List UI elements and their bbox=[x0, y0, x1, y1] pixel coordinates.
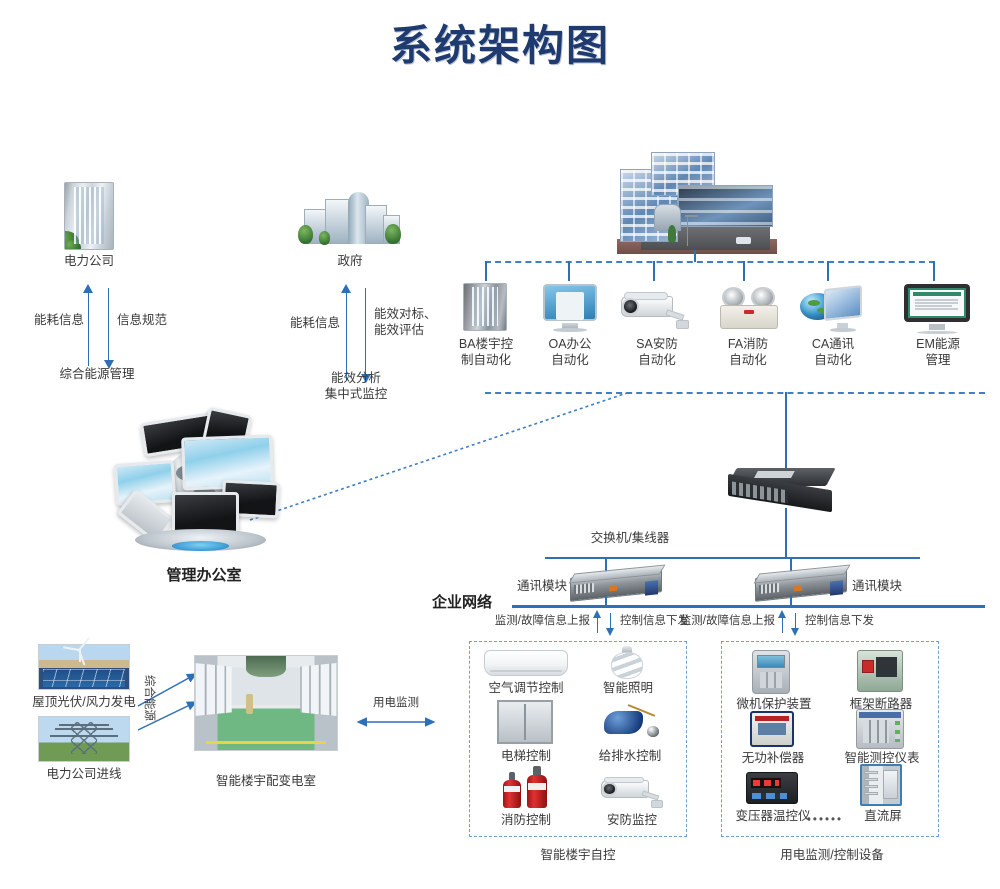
ca-globe-monitor-icon bbox=[800, 284, 862, 332]
reactive-compensator-icon bbox=[750, 711, 794, 747]
protection-relay-icon bbox=[752, 650, 790, 694]
comm-module-right-label: 通讯模块 bbox=[852, 578, 922, 594]
subsystem-drop-3 bbox=[653, 261, 655, 281]
subsystem-label-em: EM能源 管理 bbox=[903, 336, 973, 368]
subsystem-drop-2 bbox=[568, 261, 570, 281]
ba-building-icon bbox=[463, 283, 507, 331]
subsystem-label-ba: BA楼宇控 制自动化 bbox=[448, 336, 524, 368]
ba-item-label-3: 给排水控制 bbox=[588, 748, 672, 764]
flow-down-arrowhead-right bbox=[791, 628, 799, 636]
flow-up-label-right: 监测/故障信息上报 bbox=[665, 613, 775, 629]
flow-up-arrowhead-left bbox=[593, 610, 601, 618]
ba-item-label-1: 智能照明 bbox=[588, 680, 668, 696]
government-downlink-label: 能效对标、 能效评估 bbox=[374, 306, 452, 338]
subsystem-drop-6 bbox=[933, 261, 935, 281]
smart-building-substation-image bbox=[194, 655, 338, 751]
government-label: 政府 bbox=[305, 253, 395, 269]
smart-meter-icon bbox=[856, 709, 904, 749]
sa-camera-icon bbox=[620, 286, 690, 332]
enterprise-network-label: 企业网络 bbox=[432, 595, 508, 611]
power-company-label: 电力公司 bbox=[39, 253, 139, 269]
power-company-downlink-line bbox=[108, 288, 109, 364]
security-camera-icon bbox=[600, 772, 664, 810]
rooftop-pv-wind-label: 屋顶光伏/风力发电 bbox=[19, 694, 149, 710]
management-office-link bbox=[245, 385, 635, 525]
ba-item-label-5: 安防监控 bbox=[592, 812, 672, 828]
switch-uplink-line bbox=[785, 392, 787, 468]
flow-down-arrowhead-left bbox=[606, 628, 614, 636]
flow-down-label-right: 控制信息下发 bbox=[805, 613, 899, 629]
power-company-uplink-line bbox=[88, 290, 89, 366]
office-building-image bbox=[610, 150, 780, 254]
fa-emergency-light-icon bbox=[718, 286, 780, 332]
air-circuit-breaker-icon bbox=[857, 650, 903, 692]
integrated-energy-arrow-label: 综合能源 bbox=[141, 663, 157, 733]
ba-item-label-2: 电梯控制 bbox=[486, 748, 566, 764]
oa-monitor-icon bbox=[543, 284, 597, 332]
management-office-label: 管理办公室 bbox=[132, 568, 276, 584]
flow-up-arrowhead-right bbox=[778, 610, 786, 618]
power-monitoring-arrow-label: 用电监测 bbox=[355, 695, 437, 711]
government-uplink-label: 能耗信息 bbox=[272, 315, 340, 331]
ba-item-label-4: 消防控制 bbox=[486, 812, 566, 828]
transformer-temp-controller-icon bbox=[746, 772, 798, 804]
utility-incoming-line-image bbox=[38, 716, 130, 762]
rooftop-pv-wind-image bbox=[38, 644, 130, 690]
pm-item-label-2: 无功补偿器 bbox=[731, 750, 815, 766]
subsystem-drop-1 bbox=[485, 261, 487, 281]
subsystem-label-fa: FA消防 自动化 bbox=[713, 336, 783, 368]
switch-label: 交换机/集线器 bbox=[570, 530, 690, 546]
enterprise-drop-left bbox=[605, 596, 607, 606]
page-title: 系统架构图 bbox=[0, 12, 1000, 73]
power-company-downlink-label: 信息规范 bbox=[117, 312, 197, 328]
integrated-energy-management-label: 综合能源管理 bbox=[27, 366, 167, 382]
smart-building-substation-label: 智能楼宇配变电室 bbox=[196, 773, 336, 789]
enterprise-network-bus bbox=[512, 605, 985, 608]
government-uplink-line bbox=[346, 290, 347, 380]
power-company-uplink-label: 能耗信息 bbox=[18, 312, 84, 328]
power-monitoring-caption: 用电监测/控制设备 bbox=[762, 847, 902, 863]
ba-item-label-0: 空气调节控制 bbox=[482, 680, 570, 696]
air-conditioner-icon bbox=[484, 650, 568, 676]
government-icon bbox=[298, 190, 402, 246]
elevator-icon bbox=[497, 700, 553, 744]
cfl-bulb-icon bbox=[608, 646, 646, 680]
dc-panel-icon bbox=[860, 764, 902, 806]
utility-incoming-line-label: 电力公司进线 bbox=[29, 766, 139, 782]
subsystem-label-oa: OA办公 自动化 bbox=[535, 336, 605, 368]
flow-up-label-left: 监测/故障信息上报 bbox=[480, 613, 590, 629]
water-valve-icon bbox=[596, 700, 660, 744]
subsystem-label-ca: CA通讯 自动化 bbox=[798, 336, 868, 368]
subsystem-bus bbox=[485, 261, 935, 263]
government-uplink-arrowhead bbox=[341, 284, 351, 293]
power-monitoring-arrow bbox=[352, 714, 440, 730]
switch-downlink-line bbox=[785, 508, 787, 558]
fire-extinguisher-icon-2 bbox=[527, 766, 547, 808]
pm-item-label-0: 微机保护装置 bbox=[731, 696, 817, 712]
subsystem-drop-4 bbox=[743, 261, 745, 281]
government-downlink-line bbox=[365, 288, 366, 378]
subsystem-drop-5 bbox=[827, 261, 829, 281]
fire-extinguisher-icon-1 bbox=[503, 772, 521, 808]
power-company-icon bbox=[64, 182, 114, 250]
comm-module-left-icon bbox=[570, 568, 662, 602]
em-report-monitor-icon bbox=[904, 284, 970, 334]
comm-module-left-label: 通讯模块 bbox=[497, 578, 567, 594]
building-automation-caption: 智能楼宇自控 bbox=[508, 847, 648, 863]
management-office-icon bbox=[118, 414, 286, 554]
comm-module-bus bbox=[545, 557, 920, 559]
power-company-uplink-arrowhead bbox=[83, 284, 93, 293]
subsystem-label-sa: SA安防 自动化 bbox=[622, 336, 692, 368]
power-monitoring-ellipsis: •••••• bbox=[790, 812, 860, 828]
network-switch-icon bbox=[728, 468, 836, 510]
comm-module-right-icon bbox=[755, 568, 847, 602]
enterprise-drop-right bbox=[790, 596, 792, 606]
